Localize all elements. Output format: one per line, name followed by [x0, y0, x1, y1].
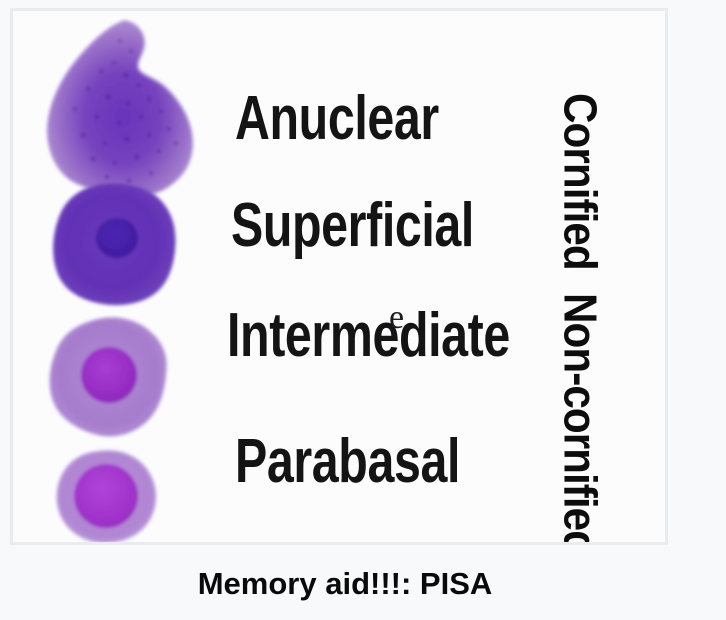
layer-label-anuclear: Anuclear [235, 88, 439, 150]
stray-character-artifact: e [389, 301, 404, 335]
group-label-non-cornified: Non-cornified [556, 293, 603, 542]
figure-canvas: Anuclear Superficial Intermediate e Para… [13, 11, 665, 542]
layer-label-parabasal: Parabasal [235, 431, 460, 493]
intermediate-squamous-cell-icon [50, 318, 166, 437]
cell-image-column [13, 11, 243, 542]
memory-aid-caption: Memory aid!!!: PISA [0, 566, 690, 602]
layer-label-intermediate: Intermediate [227, 305, 510, 367]
figure-frame: Anuclear Superficial Intermediate e Para… [10, 8, 668, 545]
layer-label-superficial: Superficial [231, 195, 474, 257]
group-label-cornified: Cornified [556, 93, 603, 270]
superficial-squamous-cell-icon [54, 183, 176, 305]
anuclear-squamous-cell-icon [48, 21, 192, 196]
parabasal-squamous-cell-icon [57, 451, 156, 542]
